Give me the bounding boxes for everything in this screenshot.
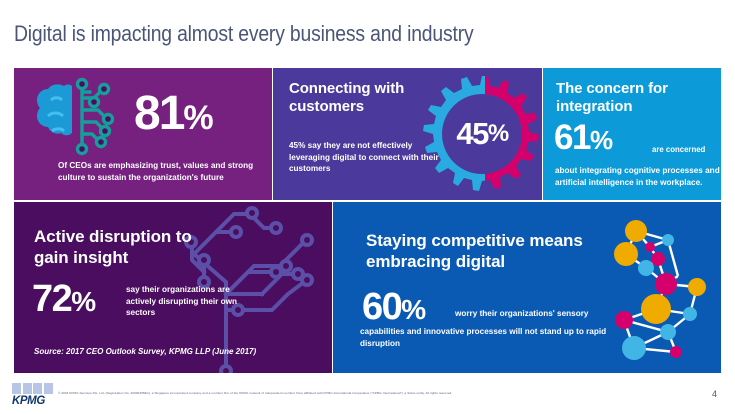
- stat-45: 45%: [421, 73, 542, 195]
- stat-72: 72%: [32, 280, 95, 318]
- kpmg-logo-bars: [12, 383, 56, 394]
- stat-60: 60%: [362, 288, 425, 326]
- page-title: Digital is impacting almost every busine…: [14, 21, 473, 47]
- panel-connecting-customers[interactable]: Connecting with customers 45% say they a…: [273, 68, 542, 200]
- panel-heading: Active disruption to gain insight: [34, 226, 214, 268]
- panel-body-text: say their organizations are actively dis…: [126, 284, 241, 319]
- panel-ceos-trust[interactable]: 81% Of CEOs are emphasizing trust, value…: [14, 68, 272, 200]
- panel-body-text: 45% say they are not effectively leverag…: [289, 140, 441, 175]
- stat-61: 61%: [554, 120, 612, 155]
- slide-root: Digital is impacting almost every busine…: [0, 0, 735, 414]
- source-note: Source: 2017 CEO Outlook Survey, KPMG LL…: [34, 347, 256, 356]
- panel-body-text: Of CEOs are emphasizing trust, values an…: [58, 160, 263, 183]
- slide-footer: KPMG © 2018 KPMG Services Pte. Ltd. (Reg…: [0, 380, 735, 414]
- panel-active-disruption[interactable]: Active disruption to gain insight 72% sa…: [14, 202, 332, 373]
- panel-heading: Staying competitive means embracing digi…: [366, 230, 636, 272]
- stat-81: 81%: [134, 90, 213, 138]
- panel-body-text: capabilities and innovative processes wi…: [360, 326, 610, 349]
- panel-heading: Connecting with customers: [289, 80, 439, 116]
- legal-disclaimer: © 2018 KPMG Services Pte. Ltd. (Registra…: [58, 391, 663, 395]
- stat-suffix: worry their organizations' sensory: [455, 309, 588, 318]
- brain-circuit-icon: [28, 76, 124, 156]
- infographic-grid: 81% Of CEOs are emphasizing trust, value…: [14, 68, 721, 373]
- panel-concern-integration[interactable]: The concern for integration 61% are conc…: [543, 68, 721, 200]
- network-nodes-icon: [608, 214, 721, 364]
- kpmg-logo-wordmark: KPMG: [12, 395, 56, 407]
- kpmg-logo: KPMG: [12, 383, 56, 409]
- panel-staying-competitive[interactable]: Staying competitive means embracing digi…: [333, 202, 721, 373]
- panel-heading: The concern for integration: [556, 80, 716, 116]
- stat-suffix: are concerned: [652, 145, 705, 154]
- panel-body-text: about integrating cognitive processes an…: [555, 165, 721, 188]
- page-number: 4: [712, 389, 717, 399]
